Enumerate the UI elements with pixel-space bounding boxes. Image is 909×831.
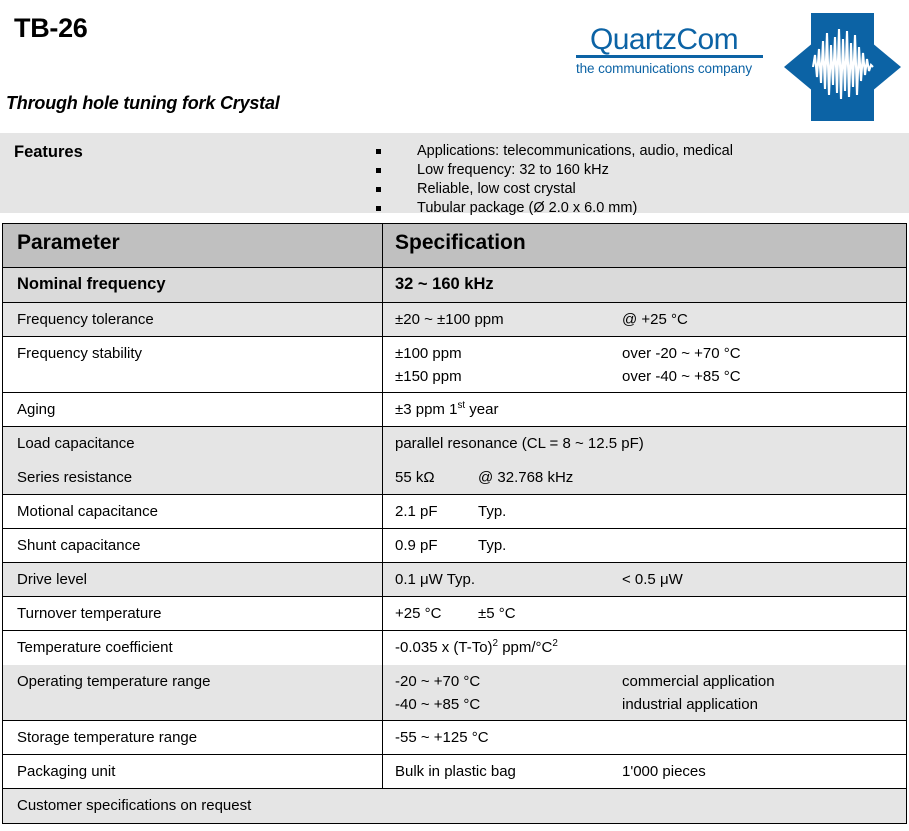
square-bullet-icon — [376, 149, 381, 154]
value-condition: Typ. — [478, 500, 906, 523]
features-heading: Features — [14, 143, 83, 162]
table-row: Temperature coefficient -0.035 x (T-To)2… — [3, 631, 906, 665]
row-value-storage-temperature-range: -55 ~ +125 °C — [383, 721, 906, 754]
value-primary: 2.1 pF — [395, 500, 478, 523]
document-subtitle: Through hole tuning fork Crystal — [6, 93, 280, 114]
value-primary: 55 kΩ — [395, 466, 478, 489]
table-row-footer-note: Customer specifications on request — [3, 789, 906, 823]
table-row: Aging ±3 ppm 1st year — [3, 393, 906, 427]
logo-tagline: the communications company — [558, 61, 770, 76]
row-value-temperature-coefficient: -0.035 x (T-To)2 ppm/°C2 — [383, 631, 906, 665]
table-header-row: Parameter Specification — [3, 224, 906, 268]
features-section: Features Applications: telecommunication… — [0, 133, 909, 213]
value-condition: < 0.5 μW — [622, 568, 906, 591]
row-label-packaging-unit: Packaging unit — [3, 755, 383, 788]
square-bullet-icon — [376, 168, 381, 173]
row-value-nominal-frequency: 32 ~ 160 kHz — [383, 268, 906, 302]
table-row: Drive level 0.1 μW Typ. < 0.5 μW — [3, 563, 906, 597]
square-bullet-icon — [376, 187, 381, 192]
value-condition-2: over -40 ~ +85 °C — [622, 365, 906, 388]
feature-text: Reliable, low cost crystal — [417, 181, 576, 197]
value-primary: 0.9 pF — [395, 534, 478, 557]
value-primary: Bulk in plastic bag — [395, 760, 622, 783]
specification-table: Parameter Specification Nominal frequenc… — [2, 223, 907, 824]
value-condition: @ +25 °C — [622, 308, 906, 331]
column-header-specification: Specification — [383, 224, 906, 267]
row-value-turnover-temperature: +25 °C ±5 °C — [383, 597, 906, 630]
feature-text: Low frequency: 32 to 160 kHz — [417, 162, 609, 178]
table-row: Shunt capacitance 0.9 pF Typ. — [3, 529, 906, 563]
value-primary-2: -40 ~ +85 °C — [395, 693, 622, 716]
table-row: Turnover temperature +25 °C ±5 °C — [3, 597, 906, 631]
customer-specifications-note: Customer specifications on request — [3, 789, 906, 823]
value-superscript-2: 2 — [552, 638, 558, 649]
table-row: Packaging unit Bulk in plastic bag 1'000… — [3, 755, 906, 789]
row-value-frequency-stability: ±100 ppm over -20 ~ +70 °C ±150 ppm over… — [383, 337, 906, 392]
row-label-drive-level: Drive level — [3, 563, 383, 596]
logo-underline-rule — [576, 55, 763, 58]
table-row: Storage temperature range -55 ~ +125 °C — [3, 721, 906, 755]
feature-text: Applications: telecommunications, audio,… — [417, 143, 733, 159]
features-list: Applications: telecommunications, audio,… — [376, 142, 733, 218]
row-label-nominal-frequency: Nominal frequency — [3, 268, 383, 302]
value-text-pre: -0.035 x (T-To) — [395, 639, 493, 656]
row-label-motional-capacitance: Motional capacitance — [3, 495, 383, 528]
row-value-packaging-unit: Bulk in plastic bag 1'000 pieces — [383, 755, 906, 788]
value-primary: ±20 ~ ±100 ppm — [395, 308, 622, 331]
table-row: Frequency stability ±100 ppm over -20 ~ … — [3, 337, 906, 393]
value-text-post: year — [465, 401, 498, 418]
column-header-parameter: Parameter — [3, 224, 383, 267]
row-value-drive-level: 0.1 μW Typ. < 0.5 μW — [383, 563, 906, 596]
row-label-temperature-coefficient: Temperature coefficient — [3, 631, 383, 665]
row-label-frequency-stability: Frequency stability — [3, 337, 383, 392]
row-value-motional-capacitance: 2.1 pF Typ. — [383, 495, 906, 528]
table-row: Motional capacitance 2.1 pF Typ. — [3, 495, 906, 529]
value-primary-1: -20 ~ +70 °C — [395, 670, 622, 693]
document-header: TB-26 Through hole tuning fork Crystal Q… — [0, 0, 909, 133]
list-item: Applications: telecommunications, audio,… — [376, 142, 733, 161]
list-item: Tubular package (Ø 2.0 x 6.0 mm) — [376, 199, 733, 218]
square-bullet-icon — [376, 206, 381, 211]
table-row: Series resistance 55 kΩ @ 32.768 kHz — [3, 461, 906, 495]
row-value-shunt-capacitance: 0.9 pF Typ. — [383, 529, 906, 562]
company-logo: QuartzCom the communications company — [558, 11, 903, 123]
row-label-shunt-capacitance: Shunt capacitance — [3, 529, 383, 562]
waveform-logo-mark-icon — [782, 11, 903, 123]
logo-wordmark: QuartzCom — [558, 24, 770, 56]
row-value-series-resistance: 55 kΩ @ 32.768 kHz — [383, 461, 906, 494]
value-condition: 1'000 pieces — [622, 760, 906, 783]
value-text-mid: ppm/°C — [498, 639, 552, 656]
table-row: Nominal frequency 32 ~ 160 kHz — [3, 268, 906, 303]
value-condition: Typ. — [478, 534, 906, 557]
table-row: Frequency tolerance ±20 ~ ±100 ppm @ +25… — [3, 303, 906, 337]
row-value-frequency-tolerance: ±20 ~ ±100 ppm @ +25 °C — [383, 303, 906, 336]
list-item: Low frequency: 32 to 160 kHz — [376, 161, 733, 180]
table-row: Operating temperature range -20 ~ +70 °C… — [3, 665, 906, 721]
value-primary-1: ±100 ppm — [395, 342, 622, 365]
row-label-load-capacitance: Load capacitance — [3, 427, 383, 461]
row-value-operating-temperature-range: -20 ~ +70 °C commercial application -40 … — [383, 665, 906, 720]
value-condition-1: over -20 ~ +70 °C — [622, 342, 906, 365]
value-primary: 0.1 μW Typ. — [395, 568, 622, 591]
row-label-frequency-tolerance: Frequency tolerance — [3, 303, 383, 336]
value-condition: @ 32.768 kHz — [478, 466, 906, 489]
row-value-aging: ±3 ppm 1st year — [383, 393, 906, 426]
value-superscript: st — [457, 400, 465, 411]
row-label-aging: Aging — [3, 393, 383, 426]
row-label-storage-temperature-range: Storage temperature range — [3, 721, 383, 754]
row-value-load-capacitance: parallel resonance (CL = 8 ~ 12.5 pF) — [383, 427, 906, 461]
document-code: TB-26 — [14, 13, 88, 44]
table-row: Load capacitance parallel resonance (CL … — [3, 427, 906, 461]
logo-company-name: QuartzCom — [590, 24, 738, 56]
value-primary: +25 °C — [395, 602, 478, 625]
list-item: Reliable, low cost crystal — [376, 180, 733, 199]
row-label-operating-temperature-range: Operating temperature range — [3, 665, 383, 720]
row-label-series-resistance: Series resistance — [3, 461, 383, 494]
value-condition-2: industrial application — [622, 693, 906, 716]
feature-text: Tubular package (Ø 2.0 x 6.0 mm) — [417, 200, 637, 216]
value-primary-2: ±150 ppm — [395, 365, 622, 388]
value-condition: ±5 °C — [478, 602, 906, 625]
value-text-pre: ±3 ppm 1 — [395, 401, 457, 418]
value-condition-1: commercial application — [622, 670, 906, 693]
row-label-turnover-temperature: Turnover temperature — [3, 597, 383, 630]
